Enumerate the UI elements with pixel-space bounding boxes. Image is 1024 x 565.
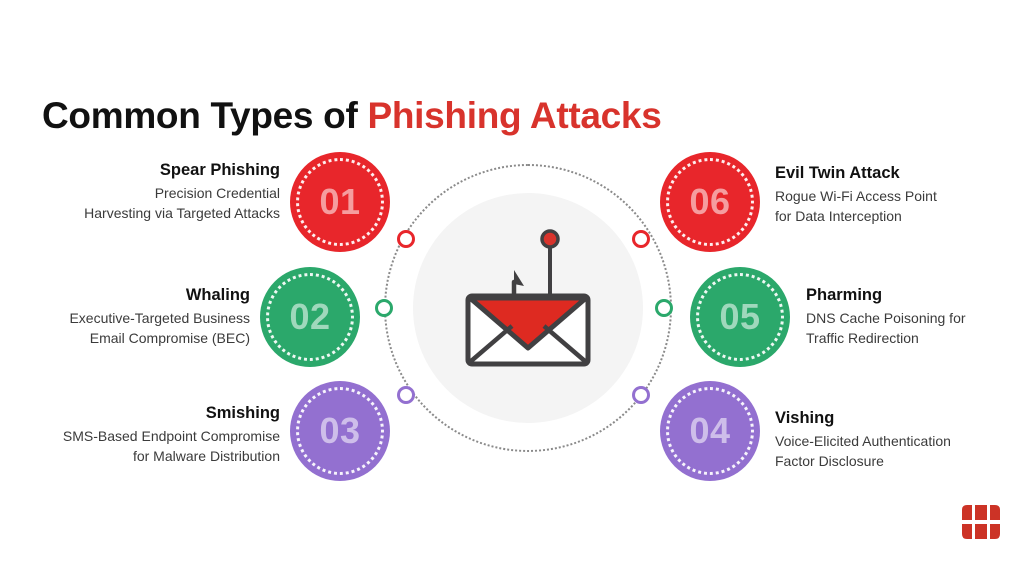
node-number-03: 03 — [319, 413, 360, 449]
node-circle-01[interactable]: 01 — [290, 152, 390, 252]
item-desc-04-line2: Factor Disclosure — [775, 452, 1024, 472]
page-title-accent: Phishing Attacks — [367, 95, 661, 136]
item-desc-03-line1: SMS-Based Endpoint Compromise — [18, 427, 280, 447]
item-desc-06-line1: Rogue Wi-Fi Access Point — [775, 187, 1024, 207]
brand-logo — [960, 504, 1002, 540]
item-label-01: Spear Phishing Precision Credential Harv… — [20, 160, 280, 223]
orbit-marker-04 — [632, 386, 650, 404]
node-circle-04[interactable]: 04 — [660, 381, 760, 481]
item-title-02: Whaling — [0, 285, 250, 306]
item-label-04: Vishing Voice-Elicited Authentication Fa… — [775, 408, 1024, 471]
item-desc-05-line2: Traffic Redirection — [806, 329, 1024, 349]
item-desc-01-line1: Precision Credential — [20, 184, 280, 204]
page-title-plain: Common Types of — [42, 95, 367, 136]
orbit-marker-01 — [397, 230, 415, 248]
phishing-email-hook-icon — [450, 222, 606, 372]
item-title-06: Evil Twin Attack — [775, 163, 1024, 184]
node-number-05: 05 — [719, 299, 760, 335]
node-circle-02[interactable]: 02 — [260, 267, 360, 367]
node-circle-06[interactable]: 06 — [660, 152, 760, 252]
item-title-04: Vishing — [775, 408, 1024, 429]
item-desc-04-line1: Voice-Elicited Authentication — [775, 432, 1024, 452]
orbit-marker-06 — [632, 230, 650, 248]
item-label-05: Pharming DNS Cache Poisoning for Traffic… — [806, 285, 1024, 348]
item-title-05: Pharming — [806, 285, 1024, 306]
item-desc-03-line2: for Malware Distribution — [18, 447, 280, 467]
node-number-01: 01 — [319, 184, 360, 220]
orbit-marker-05 — [655, 299, 673, 317]
orbit-marker-02 — [375, 299, 393, 317]
node-circle-05[interactable]: 05 — [690, 267, 790, 367]
page-title: Common Types of Phishing Attacks — [42, 95, 662, 137]
item-title-03: Smishing — [18, 403, 280, 424]
item-desc-01-line2: Harvesting via Targeted Attacks — [20, 204, 280, 224]
item-desc-05-line1: DNS Cache Poisoning for — [806, 309, 1024, 329]
node-number-06: 06 — [689, 184, 730, 220]
item-desc-02-line2: Email Compromise (BEC) — [0, 329, 250, 349]
item-label-02: Whaling Executive-Targeted Business Emai… — [0, 285, 250, 348]
item-title-01: Spear Phishing — [20, 160, 280, 181]
node-number-02: 02 — [289, 299, 330, 335]
item-desc-06-line2: for Data Interception — [775, 207, 1024, 227]
item-label-06: Evil Twin Attack Rogue Wi-Fi Access Poin… — [775, 163, 1024, 226]
item-desc-02-line1: Executive-Targeted Business — [0, 309, 250, 329]
center-hub — [384, 164, 672, 452]
item-label-03: Smishing SMS-Based Endpoint Compromise f… — [18, 403, 280, 466]
orbit-marker-03 — [397, 386, 415, 404]
node-circle-03[interactable]: 03 — [290, 381, 390, 481]
node-number-04: 04 — [689, 413, 730, 449]
